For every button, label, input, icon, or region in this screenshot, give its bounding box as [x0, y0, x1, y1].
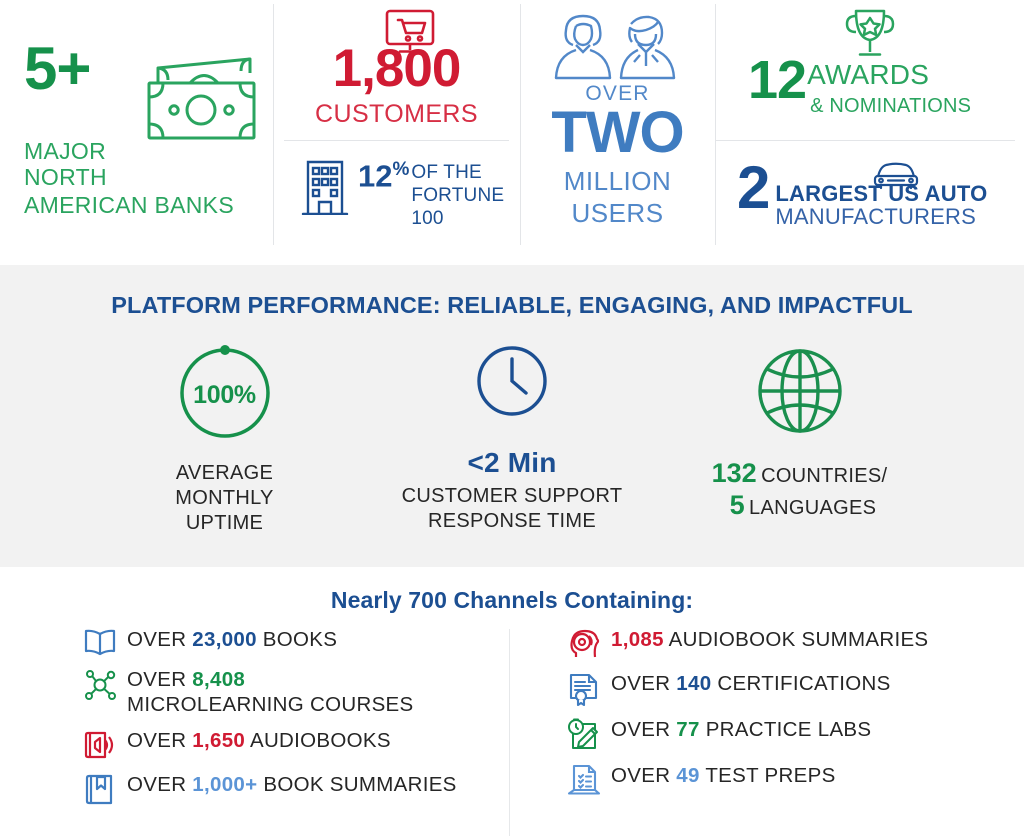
users-label-line2: MILLION [520, 166, 715, 197]
list-item-text: OVER 1,650 AUDIOBOOKS [120, 728, 391, 753]
fortune-label-line2: FORTUNE 100 [411, 184, 520, 230]
value-number: 140 [676, 672, 711, 695]
countries-number: 132 [712, 458, 757, 488]
auto-label-line2: MANUFACTURERS [775, 205, 987, 229]
uptime-label-line2: MONTHLY [75, 486, 375, 511]
fortune-number: 12% [358, 160, 409, 191]
uptime-value: 100% [75, 381, 375, 410]
open-book-icon [80, 627, 120, 656]
value-number: 1,000+ [192, 773, 257, 796]
channels-title: Nearly 700 Channels Containing: [0, 587, 1024, 614]
banks-label-line3: AMERICAN BANKS [24, 192, 270, 219]
stopwatch-pencil-icon [564, 717, 604, 752]
users-label-line3: USERS [520, 198, 715, 229]
metric-uptime: 100% AVERAGE MONTHLY UPTIME [75, 343, 375, 536]
list-item-text: OVER 49 TEST PREPS [604, 763, 836, 788]
metric-support-response: <2 Min CUSTOMER SUPPORT RESPONSE TIME [375, 343, 650, 534]
value-number: 77 [676, 718, 699, 741]
value-number: 1,650 [192, 729, 245, 752]
list-item-certifications: OVER 140 CERTIFICATIONS [564, 671, 1024, 706]
channels-content-section: Nearly 700 Channels Containing: OVER 23,… [0, 567, 1024, 836]
list-item-text: OVER 77 PRACTICE LABS [604, 717, 871, 742]
list-item-text: OVER 140 CERTIFICATIONS [604, 671, 891, 696]
list-item-text-line2: MICROLEARNING COURSES [127, 692, 414, 717]
users-big-number: TWO [520, 104, 715, 162]
auto-label-line1: LARGEST US AUTO [775, 182, 987, 205]
platform-performance-section: PLATFORM PERFORMANCE: RELIABLE, ENGAGING… [0, 265, 1024, 567]
divider-horizontal-awards [715, 140, 1015, 141]
progress-circle-icon [175, 430, 275, 447]
content-list-right: 1,085 AUDIOBOOK SUMMARIES [509, 627, 1024, 817]
fortune-label-line1: OF THE [411, 162, 482, 183]
global-row-languages: 5 LANGUAGES [712, 489, 888, 521]
content-list-left: OVER 23,000 BOOKS [0, 627, 509, 817]
countries-label: COUNTRIES/ [761, 465, 887, 487]
platform-performance-title: PLATFORM PERFORMANCE: RELIABLE, ENGAGING… [0, 292, 1024, 319]
languages-number: 5 [730, 490, 745, 520]
list-item-audiobook-summaries: 1,085 AUDIOBOOK SUMMARIES [564, 627, 1024, 660]
value-number: 1,085 [611, 628, 664, 651]
stat-card-banks: 5+ MAJOR NORTH AMERICAN BANKS [0, 0, 273, 265]
bookmark-book-icon [80, 772, 120, 806]
value-number: 8,408 [192, 668, 245, 691]
uptime-label-line3: UPTIME [75, 511, 375, 536]
stat-card-awards: 12 AWARDS & NOMINATIONS 2 LARGEST US AUT… [715, 0, 1024, 265]
banks-number: 5+ [24, 40, 107, 97]
banks-label-line2: NORTH [24, 165, 107, 191]
uptime-label-line1: AVERAGE [75, 461, 375, 486]
certificate-icon [564, 671, 604, 706]
stat-card-fortune: 12% OF THE FORTUNE 100 [301, 158, 520, 231]
auto-number: 2 [737, 165, 769, 212]
divider-horizontal-customers [284, 140, 509, 141]
global-row-countries: 132 COUNTRIES/ [712, 457, 888, 489]
banknote-icon [146, 52, 264, 147]
two-people-icon [552, 12, 682, 87]
checklist-document-icon [564, 763, 604, 796]
head-headphones-icon [564, 627, 604, 660]
awards-label-line1: AWARDS [807, 61, 971, 89]
list-item-practice-labs: OVER 77 PRACTICE LABS [564, 717, 1024, 752]
list-item-book-summaries: OVER 1,000+ BOOK SUMMARIES [80, 772, 509, 806]
stat-card-customers: 1,800 CUSTOMERS [273, 0, 520, 265]
top-stats-section: 5+ MAJOR NORTH AMERICAN BANKS [0, 0, 1024, 265]
support-response-value: <2 Min [375, 447, 650, 479]
list-item-text: 1,085 AUDIOBOOK SUMMARIES [604, 627, 928, 652]
value-number: 49 [676, 764, 699, 787]
metric-global-reach: 132 COUNTRIES/ 5 LANGUAGES [650, 343, 950, 522]
list-item-books: OVER 23,000 BOOKS [80, 627, 509, 656]
audiobook-speaker-icon [80, 728, 120, 761]
percent-symbol: % [392, 159, 409, 180]
value-number: 23,000 [192, 628, 257, 651]
list-item-text: OVER 1,000+ BOOK SUMMARIES [120, 772, 457, 797]
clock-icon [474, 406, 550, 423]
stat-card-users: OVER TWO MILLION USERS [520, 0, 715, 265]
awards-label-line2: & NOMINATIONS [810, 96, 971, 116]
list-item-test-preps: OVER 49 TEST PREPS [564, 763, 1024, 796]
list-item-audiobooks: OVER 1,650 AUDIOBOOKS [80, 728, 509, 761]
office-building-icon [301, 158, 349, 220]
support-label-line2: RESPONSE TIME [375, 509, 650, 534]
trophy-icon [837, 6, 903, 66]
languages-label: LANGUAGES [749, 497, 876, 519]
customers-label: CUSTOMERS [273, 100, 520, 129]
awards-number: 12 [748, 58, 806, 102]
banks-label-line1: MAJOR [24, 139, 107, 165]
list-item-text: OVER 23,000 BOOKS [120, 627, 337, 652]
list-item-microlearning: OVER 8,408 MICROLEARNING COURSES [80, 667, 509, 717]
customers-number: 1,800 [273, 42, 520, 95]
list-item-text: OVER 8,408 MICROLEARNING COURSES [120, 667, 414, 717]
network-nodes-icon [80, 667, 120, 702]
support-label-line1: CUSTOMER SUPPORT [375, 484, 650, 509]
globe-icon [752, 426, 848, 443]
